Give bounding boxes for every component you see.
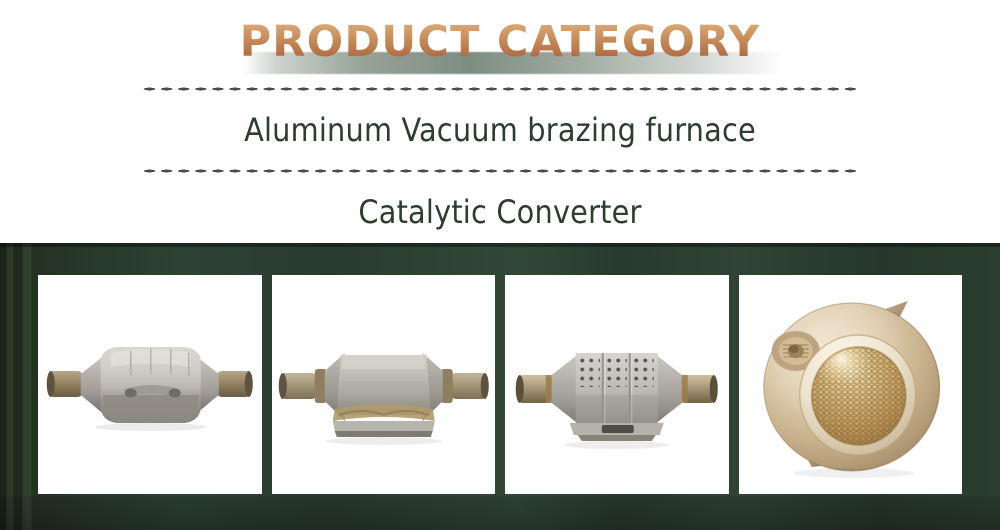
dot-rule-lower (141, 169, 859, 173)
product-image-3 (505, 275, 729, 494)
product-card-4[interactable] (739, 275, 963, 494)
product-card-list (38, 275, 962, 494)
product-category-banner: PRODUCT CATEGORY Aluminum Vacuum brazing… (0, 0, 1000, 530)
strip-top-shadow (0, 243, 1000, 247)
catalytic-converter-honeycomb-front-icon (739, 275, 963, 494)
banner-header: PRODUCT CATEGORY Aluminum Vacuum brazing… (0, 0, 1000, 243)
title-block: PRODUCT CATEGORY (0, 14, 1000, 70)
product-gallery-strip (0, 243, 1000, 530)
product-image-1 (38, 275, 262, 494)
product-card-2[interactable] (272, 275, 496, 494)
product-card-1[interactable] (38, 275, 262, 494)
product-card-3[interactable] (505, 275, 729, 494)
page-title: PRODUCT CATEGORY (0, 14, 1000, 70)
catalytic-converter-flat-icon (272, 275, 496, 494)
strip-bottom-shadow (0, 496, 1000, 530)
subtitle-catalytic-converter: Catalytic Converter (0, 190, 1000, 234)
catalytic-converter-perforated-icon (505, 275, 729, 494)
product-image-4 (739, 275, 963, 494)
dot-rule-upper (141, 87, 859, 91)
product-image-2 (272, 275, 496, 494)
subtitle-aluminum-vacuum-brazing-furnace: Aluminum Vacuum brazing furnace (0, 108, 1000, 152)
catalytic-converter-oval-icon (38, 275, 262, 494)
